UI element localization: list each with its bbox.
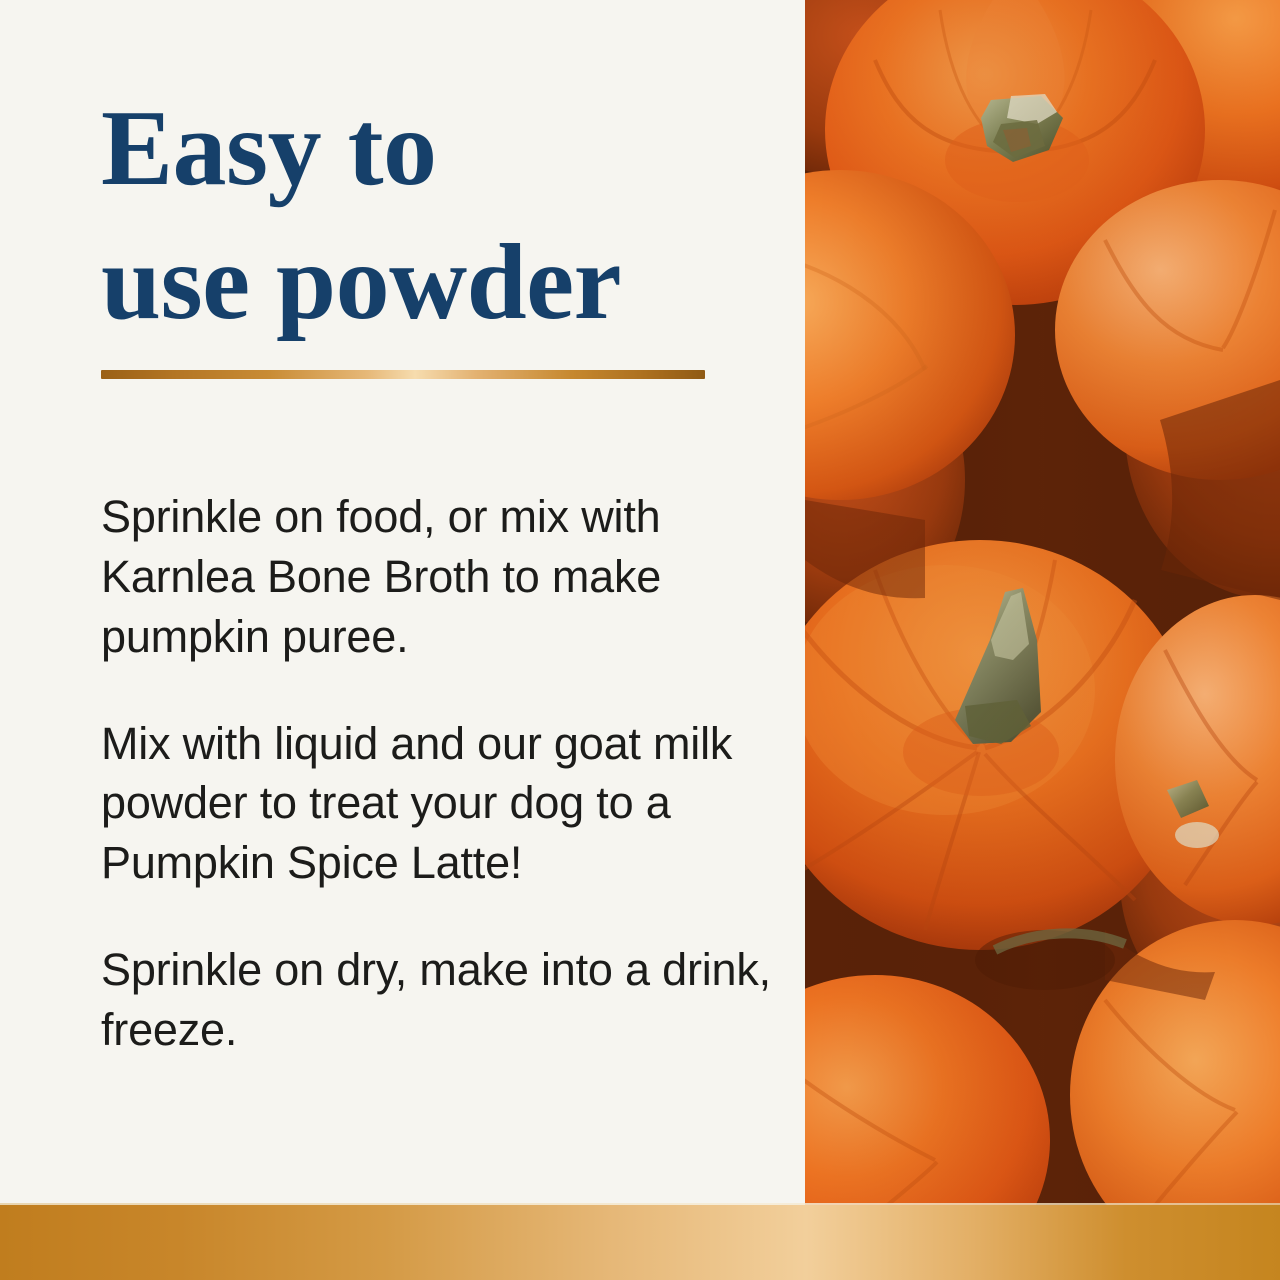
page-title: Easy to use powder [101,82,761,350]
gold-divider-rule [101,370,705,379]
footer-gold-band [0,1205,1280,1280]
pumpkin-photo [805,0,1280,1280]
product-feature-card: Easy to use powder Sprinkle on food, or … [0,0,1280,1280]
instruction-paragraph-2: Mix with liquid and our goat milk powder… [101,714,781,894]
text-panel: Easy to use powder Sprinkle on food, or … [0,0,805,1280]
pumpkin-photo-illustration [805,0,1280,1280]
instruction-paragraph-1: Sprinkle on food, or mix with Karnlea Bo… [101,487,781,667]
instructions-copy: Sprinkle on food, or mix with Karnlea Bo… [101,487,781,1060]
headline-line-2: use powder [101,216,761,350]
instruction-paragraph-3: Sprinkle on dry, make into a drink, free… [101,940,781,1060]
headline-line-1: Easy to [101,82,761,216]
